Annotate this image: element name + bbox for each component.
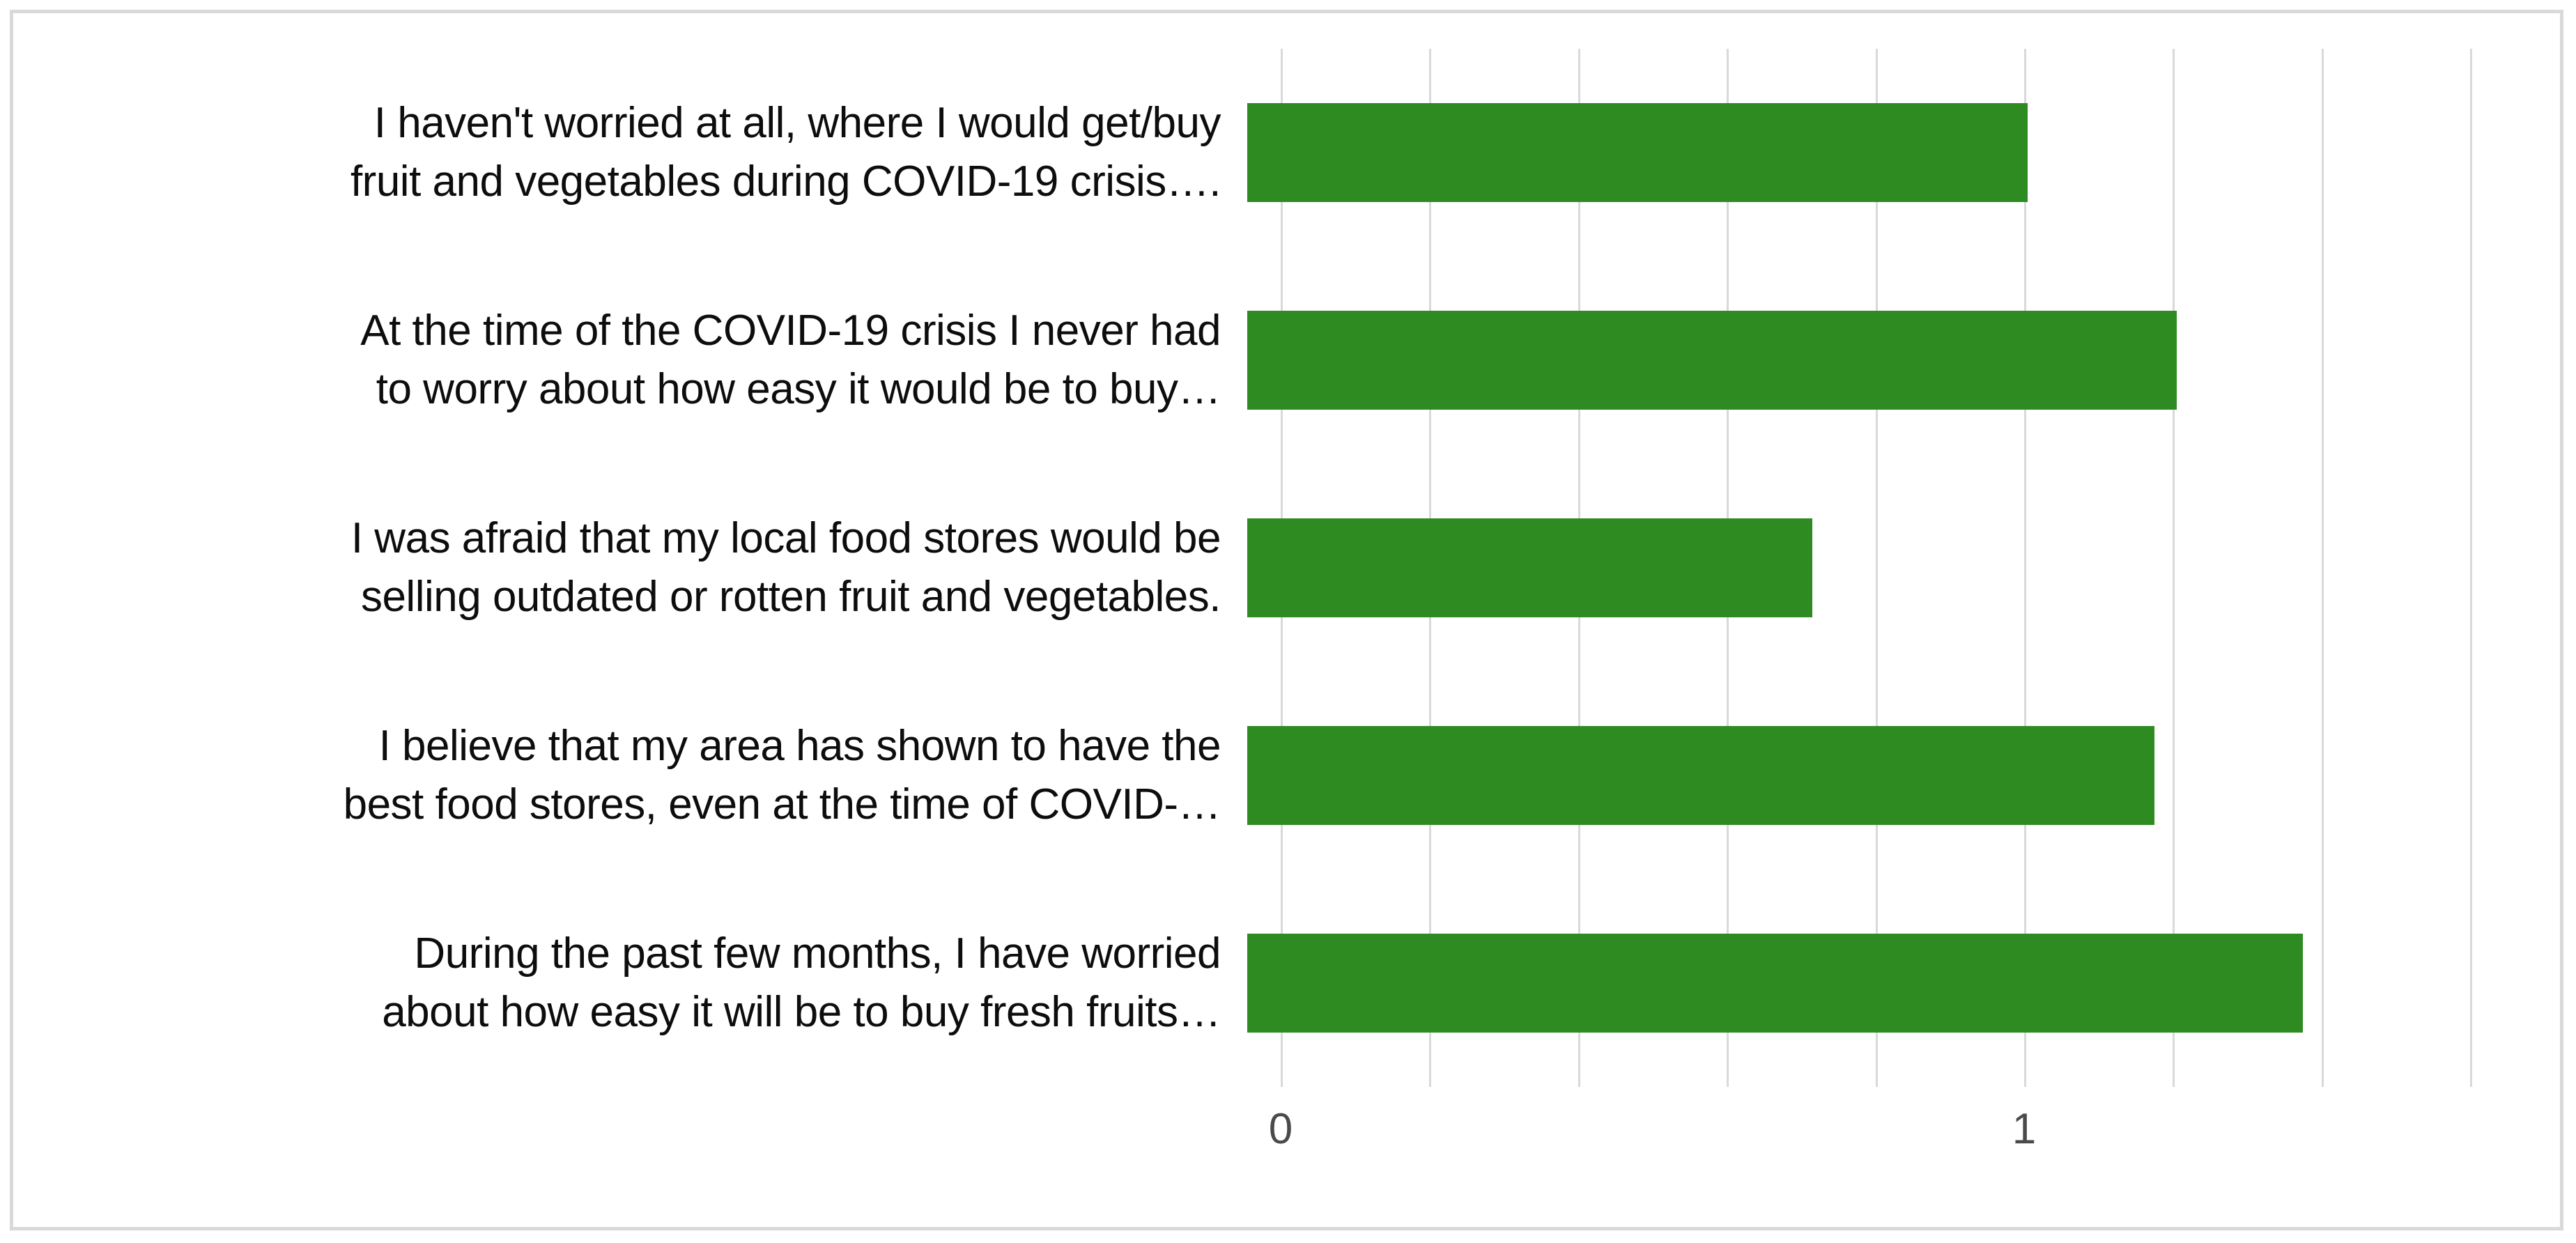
bar-row: I was afraid that my local food stores w… <box>0 464 2554 672</box>
bar-track <box>1247 464 2554 672</box>
bar[interactable] <box>1247 934 2303 1033</box>
category-label: I was afraid that my local food stores w… <box>0 509 1247 627</box>
category-label: During the past few months, I have worri… <box>0 925 1247 1042</box>
x-axis: 01 <box>1281 1104 2506 1188</box>
category-label: At the time of the COVID-19 crisis I nev… <box>0 302 1247 419</box>
bar-row: I haven't worried at all, where I would … <box>0 49 2554 256</box>
bar-row: At the time of the COVID-19 crisis I nev… <box>0 256 2554 464</box>
bar[interactable] <box>1247 518 1812 617</box>
bar-row: I believe that my area has shown to have… <box>0 672 2554 879</box>
x-tick-label: 1 <box>2012 1104 2036 1154</box>
category-label: I haven't worried at all, where I would … <box>0 94 1247 212</box>
category-label: I believe that my area has shown to have… <box>0 717 1247 835</box>
x-tick-label: 0 <box>1269 1104 1293 1154</box>
bar-rows: I haven't worried at all, where I would … <box>0 49 2554 1087</box>
bar[interactable] <box>1247 726 2154 825</box>
bar-track <box>1247 49 2554 256</box>
bar-chart: I haven't worried at all, where I would … <box>0 0 2576 1243</box>
bar[interactable] <box>1247 311 2177 410</box>
bar[interactable] <box>1247 103 2028 202</box>
bar-row: During the past few months, I have worri… <box>0 879 2554 1087</box>
bar-track <box>1247 879 2554 1087</box>
bar-track <box>1247 672 2554 879</box>
bar-track <box>1247 256 2554 464</box>
